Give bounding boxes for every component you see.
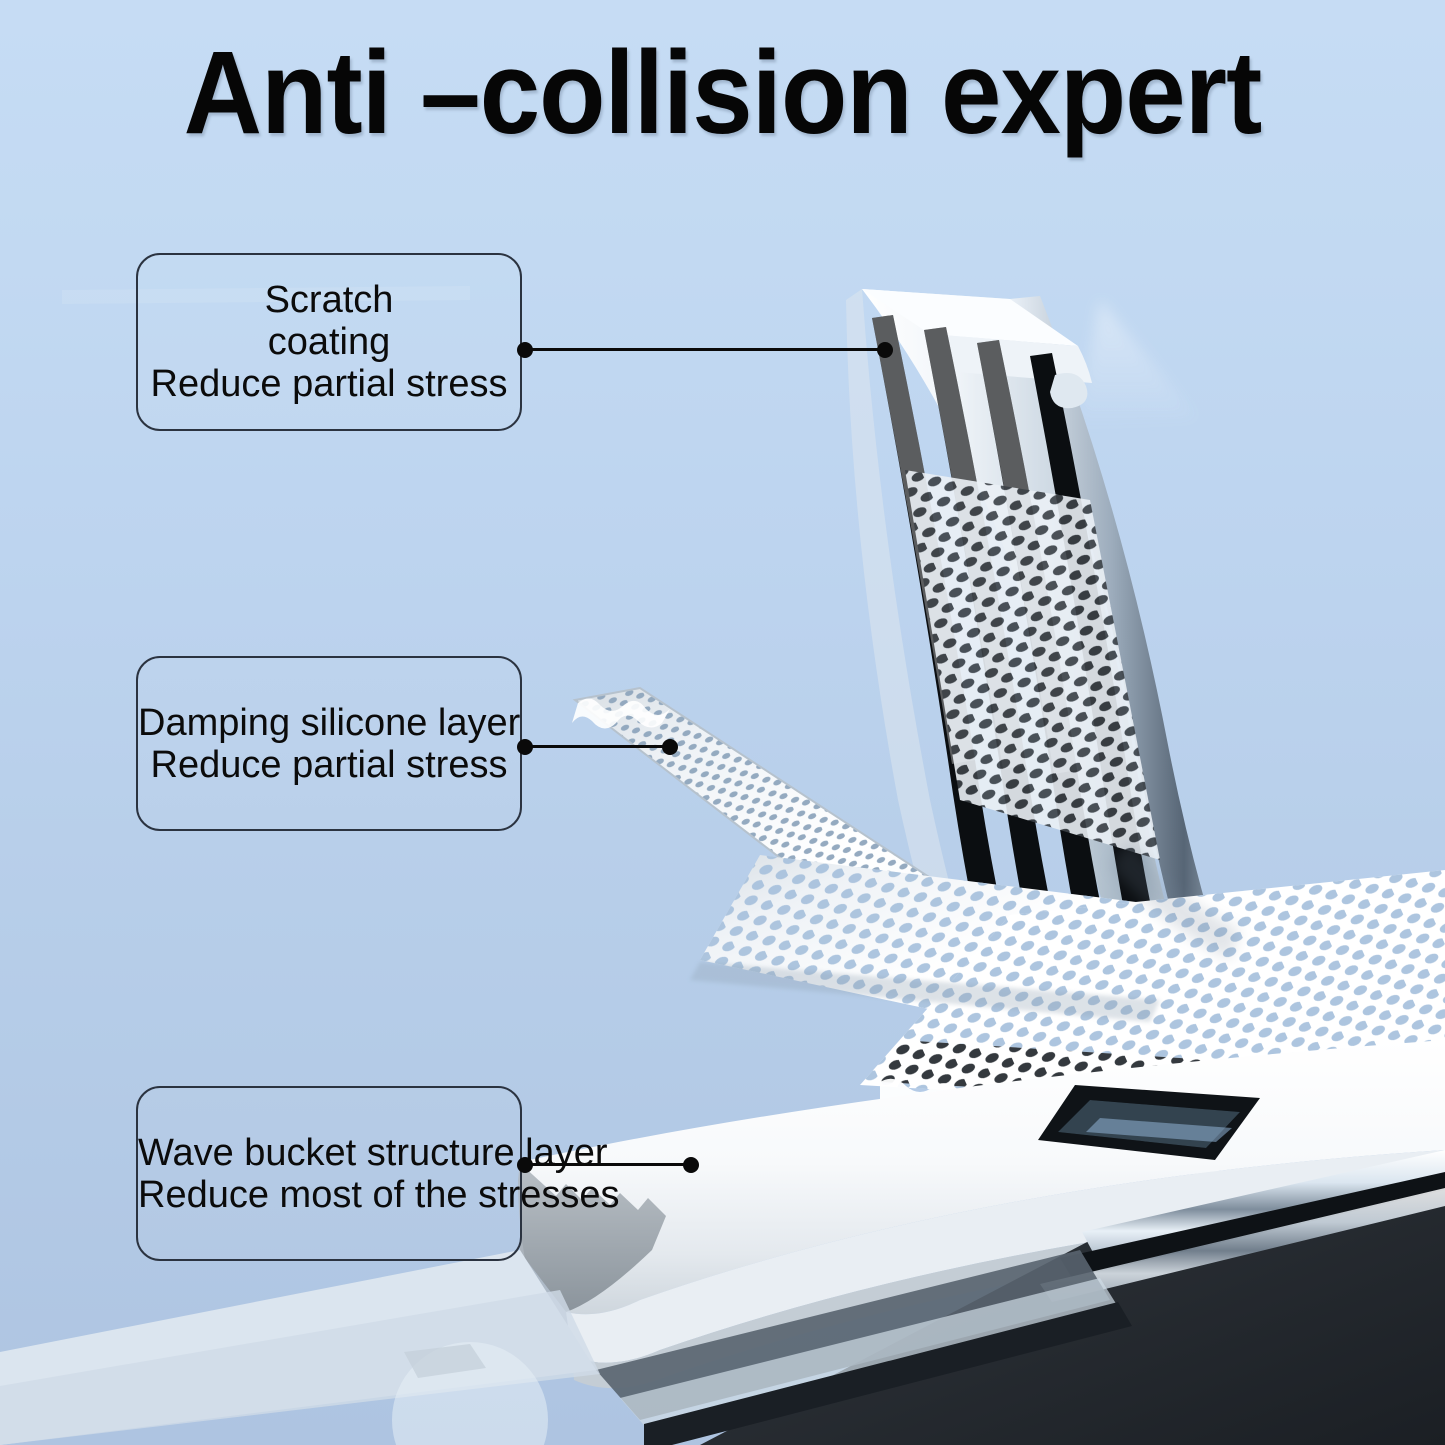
leader-line-damping-silicone-layer	[524, 745, 671, 748]
infographic-canvas: Anti –collision expert ScratchcoatingRed…	[0, 0, 1445, 1445]
rib-channels	[872, 315, 1190, 1090]
callout-text: Wave bucket structure layerReduce most o…	[138, 1132, 520, 1216]
wave-bucket-slab	[518, 1040, 1445, 1388]
callout-scratch-coating[interactable]: ScratchcoatingReduce partial stress	[136, 253, 522, 431]
callout-text: ScratchcoatingReduce partial stress	[138, 279, 520, 405]
leader-line-wave-bucket-structure-layer	[524, 1163, 692, 1166]
callout-text: Damping silicone layerReduce partial str…	[138, 702, 520, 786]
camera-cutout	[1038, 1085, 1260, 1160]
callout-wave-bucket-structure-layer[interactable]: Wave bucket structure layerReduce most o…	[136, 1086, 522, 1261]
background-ghost-shape	[1075, 300, 1200, 430]
ribbed-top-layer	[846, 289, 1300, 1178]
perforated-damping-mesh	[540, 660, 1445, 1148]
leader-line-scratch-coating	[524, 348, 886, 351]
callout-damping-silicone-layer[interactable]: Damping silicone layerReduce partial str…	[136, 656, 522, 831]
page-title: Anti –collision expert	[58, 34, 1387, 152]
